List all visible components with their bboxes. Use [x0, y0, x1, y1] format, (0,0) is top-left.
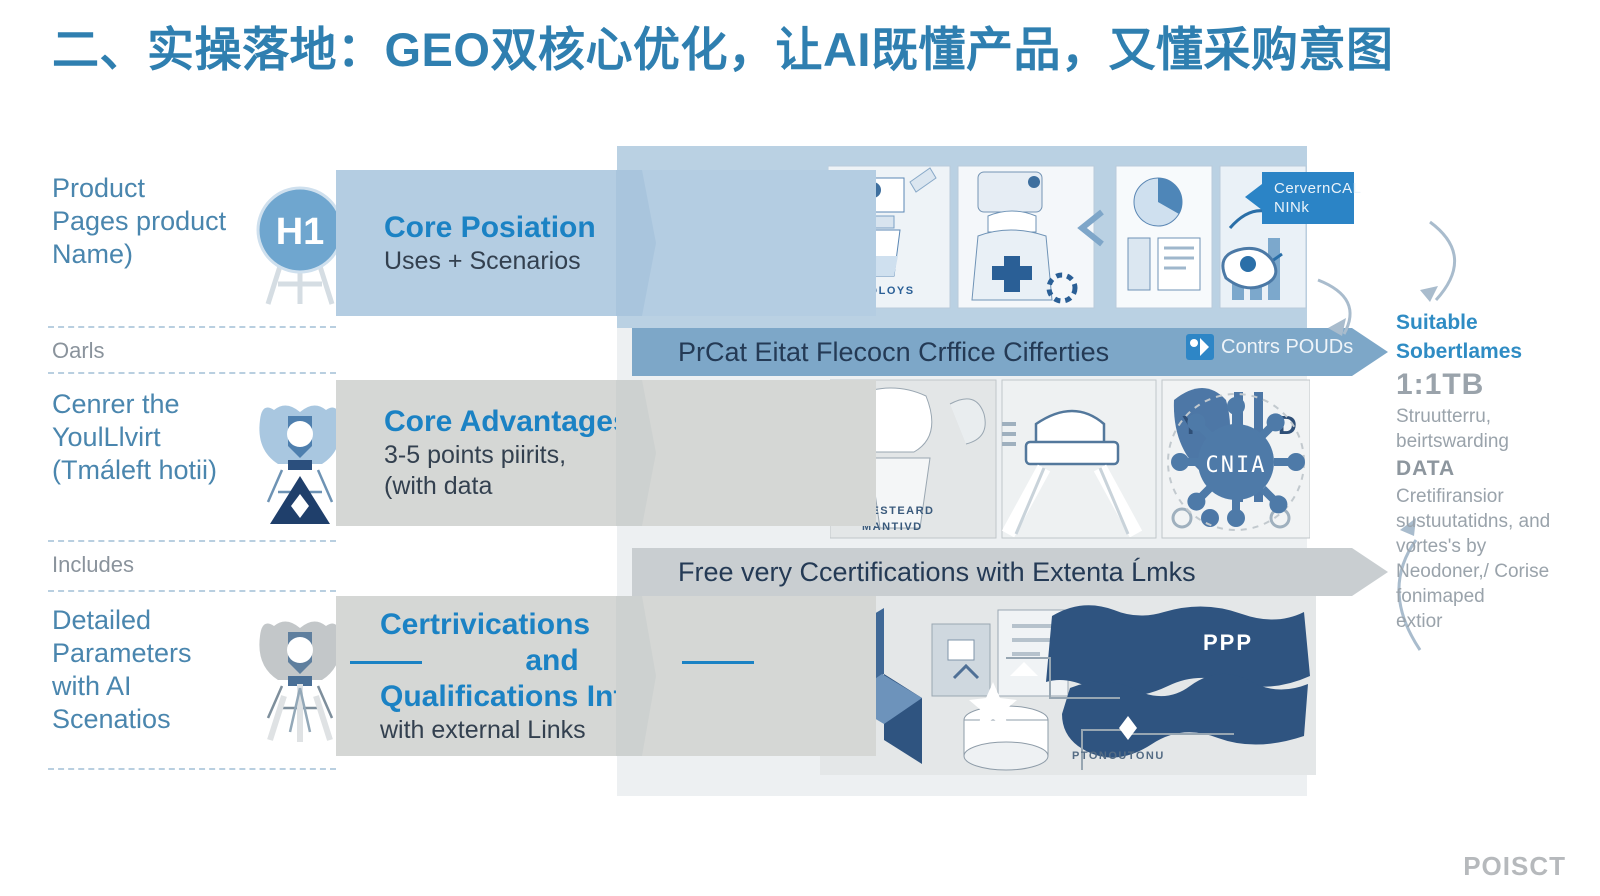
- person-avatar-icon: [252, 398, 348, 528]
- row-divider-caption-2: Includes: [52, 552, 134, 578]
- right-heading-line-2: Sobertlames: [1396, 337, 1592, 366]
- band-row-1: Core Posiation Uses + Scenarios: [336, 170, 876, 316]
- svg-text:H1: H1: [276, 211, 325, 253]
- map-label: PPP: [1203, 630, 1253, 656]
- right-paragraph-1: Struutterru, beirtswarding: [1396, 404, 1592, 454]
- row-divider-3: [48, 768, 336, 770]
- ribbon-1-text: PrCat Eitat Flecocn Crffice Cifferties: [678, 337, 1109, 368]
- right-heading-line-1: Suitable: [1396, 308, 1592, 337]
- right-paragraph-2: Cretifiransior sustuutatidns, and vortes…: [1396, 484, 1592, 634]
- row-label-3-text: Detailed Parameters with AI Scenatios: [52, 604, 227, 736]
- map-sub-caption: PTONOUTONU: [1072, 750, 1165, 762]
- row-divider-caption-1: Oarls: [52, 338, 105, 364]
- row-label-2-text: Cenrer the YoulLlvirt (Tmáleft hotii): [52, 388, 227, 487]
- watermark-logo: POISCT: [1463, 851, 1566, 882]
- right-bold-label: DATA: [1396, 454, 1592, 484]
- right-info-column: Suitable Sobertlames 1:1TB Struutterru, …: [1396, 308, 1592, 634]
- person-avatar-icon: [252, 614, 348, 744]
- right-big-value: 1:1TB: [1396, 366, 1592, 404]
- brand-chip-icon: [1186, 334, 1214, 360]
- row-label-2: Cenrer the YoulLlvirt (Tmáleft hotii) PP…: [52, 388, 342, 528]
- band-row-2: Core Advantages, 3-5 points piirits, (wi…: [336, 380, 876, 526]
- row-divider-2: [48, 540, 336, 542]
- ribbon-2: Free very Ccertifications with Extenta Ĺ…: [632, 548, 1352, 596]
- band-arrow-3: [616, 596, 656, 756]
- row-label-1: Product Pages product Name) PP7 H1: [52, 172, 342, 312]
- band-arrow-1: [616, 170, 656, 316]
- row-divider-1b: [48, 372, 336, 374]
- band-arrow-2: [616, 380, 656, 526]
- band-title-3-line2: and: [342, 643, 762, 679]
- virus-icon: CNIA: [1158, 386, 1318, 542]
- h1-medal-icon: H1: [252, 182, 348, 312]
- row-divider-2b: [48, 590, 336, 592]
- svg-text:CNIA: CNIA: [1206, 453, 1267, 478]
- ribbon-2-text: Free very Ccertifications with Extenta Ĺ…: [678, 557, 1196, 588]
- row-divider-1: [48, 326, 336, 328]
- row-label-3: Detailed Parameters with AI Scenatios FU…: [52, 604, 342, 754]
- illustration-row-3: [820, 580, 1316, 775]
- band-row-3: Certrivications and Qualifications Infa …: [336, 596, 876, 756]
- row-label-1-text: Product Pages product Name): [52, 172, 227, 271]
- page-title: 二、实操落地：GEO双核心优化，让AI既懂产品，又懂采购意图: [52, 14, 1552, 90]
